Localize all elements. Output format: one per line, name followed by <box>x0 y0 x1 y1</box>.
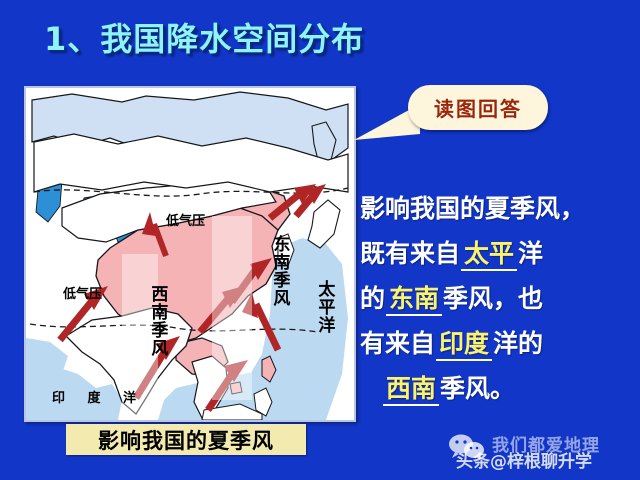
map-graphic <box>26 88 354 420</box>
map-label-pacific-ocean: 太平洋 <box>315 280 332 334</box>
highlight-band-east <box>212 216 252 400</box>
question-text-block: 影响我国的夏季风， 既有来自太平洋 的东南季风，也 有来自印度洋的 西南季风。 <box>360 186 636 411</box>
question-line-1: 影响我国的夏季风， <box>360 186 636 231</box>
question-line-4: 有来自印度洋的 <box>360 321 636 366</box>
text-run: 影响我国的夏季风， <box>360 194 585 223</box>
slide-root: 1、我国降水空间分布 <box>0 0 640 480</box>
text-run: 有来自 <box>360 329 435 358</box>
monsoon-map: 低气压 低气压 东南季风 西南季风 太平洋 印 度 洋 <box>24 86 356 422</box>
answer-blank-pacific[interactable]: 太平 <box>461 239 517 271</box>
question-line-5: 西南季风。 <box>360 366 636 411</box>
map-label-low-pressure-india: 低气压 <box>63 288 102 301</box>
toutiao-watermark-text: 头条@梓根聊升学 <box>456 447 592 472</box>
text-run: 洋的 <box>493 329 543 358</box>
text-run: 既有来自 <box>360 239 460 268</box>
text-run: 的 <box>360 284 385 313</box>
answer-blank-southwest[interactable]: 西南 <box>383 374 439 406</box>
map-label-southeast-monsoon: 东南季风 <box>270 235 287 307</box>
map-caption-text: 影响我国的夏季风 <box>98 425 274 455</box>
question-line-3: 的东南季风，也 <box>360 276 636 321</box>
text-run: 季风，也 <box>443 284 543 313</box>
text-run: 季风。 <box>440 374 515 403</box>
answer-blank-india[interactable]: 印度 <box>436 329 492 361</box>
watermark-group: 我们都爱地理 头条@梓根聊升学 <box>440 428 636 474</box>
answer-blank-southeast[interactable]: 东南 <box>386 284 442 316</box>
map-label-indian-ocean: 印 度 洋 <box>52 392 145 405</box>
page-title: 1、我国降水空间分布 <box>44 14 364 60</box>
map-caption: 影响我国的夏季风 <box>66 424 306 455</box>
callout-bubble: 读图回答 <box>408 85 548 130</box>
question-line-2: 既有来自太平洋 <box>360 231 636 276</box>
text-run: 洋 <box>518 239 543 268</box>
map-label-low-pressure-china: 低气压 <box>166 215 205 228</box>
callout-text: 读图回答 <box>434 93 522 122</box>
map-label-southwest-monsoon: 西南季风 <box>148 285 165 357</box>
